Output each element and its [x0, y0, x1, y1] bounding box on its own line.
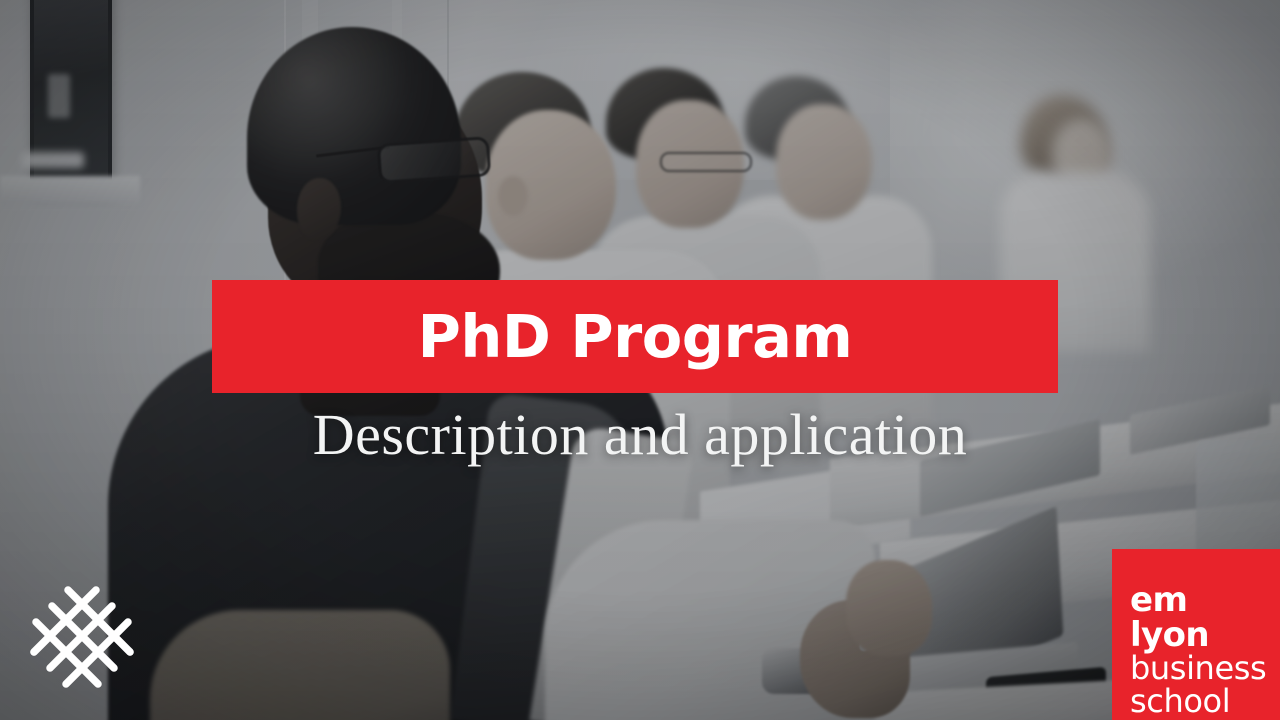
page-title: PhD Program	[418, 307, 853, 366]
title-banner: PhD Program	[212, 280, 1058, 393]
video-thumbnail: PhD Program Description and application …	[0, 0, 1280, 720]
emlyon-woven-lattice-mark	[30, 586, 134, 690]
logo-text-em: em	[1130, 583, 1280, 618]
emlyon-logo: em lyon business school	[1112, 549, 1280, 720]
page-subtitle: Description and application	[0, 404, 1280, 467]
logo-text-school: school	[1130, 685, 1280, 718]
logo-text-business: business	[1130, 652, 1280, 685]
logo-text-lyon: lyon	[1130, 618, 1280, 653]
